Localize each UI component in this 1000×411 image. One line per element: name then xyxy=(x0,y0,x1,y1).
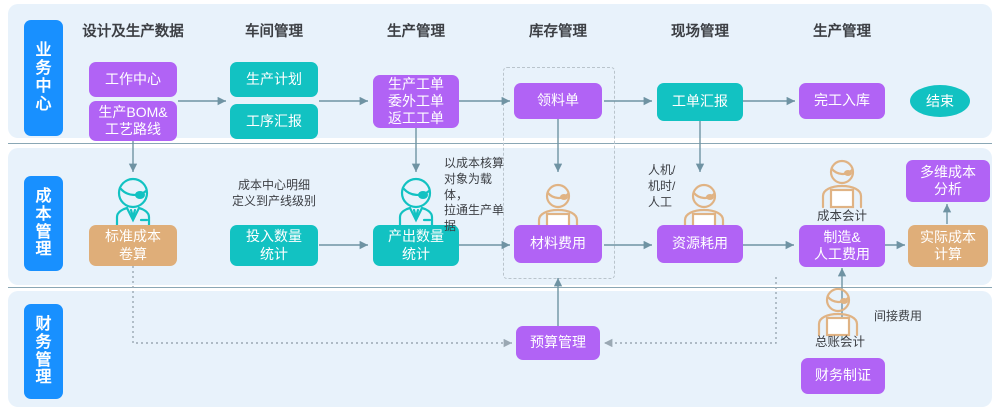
node-multi-dimensional-cost-analysis[interactable]: 多维成本 分析 xyxy=(906,160,990,202)
column-header-production-management-1: 生产管理 xyxy=(387,20,445,41)
node-work-order-report[interactable]: 工单汇报 xyxy=(657,83,743,121)
note-cost-object-carrier: 以成本核算 对象为载体， 拉通生产单据 xyxy=(444,156,514,235)
divider-top xyxy=(8,143,992,144)
node-process-report[interactable]: 工序汇报 xyxy=(230,104,318,139)
node-standard-cost-rollup[interactable]: 标准成本 卷算 xyxy=(89,225,177,266)
column-header-site-management: 现场管理 xyxy=(671,20,729,41)
caption-cost-accountant: 成本会计 xyxy=(817,205,867,224)
node-actual-cost-calculation[interactable]: 实际成本 计算 xyxy=(908,225,988,267)
row-badge-cost-management: 成本管理 xyxy=(24,176,63,271)
row-badge-finance-management: 财务管理 xyxy=(24,304,63,399)
diagram-canvas: 业务中心 成本管理 财务管理 设计及生产数据 车间管理 生产管理 库存管理 现场… xyxy=(0,0,1000,411)
node-work-center[interactable]: 工作中心 xyxy=(89,62,177,97)
node-picking-list[interactable]: 领料单 xyxy=(514,83,602,119)
column-header-inventory-management: 库存管理 xyxy=(529,20,587,41)
node-work-orders[interactable]: 生产工单 委外工单 返工工单 xyxy=(373,75,459,128)
node-production-bom-routing[interactable]: 生产BOM& 工艺路线 xyxy=(89,101,177,141)
node-resource-consumption[interactable]: 资源耗用 xyxy=(657,225,743,263)
column-header-design-production-data: 设计及生产数据 xyxy=(82,20,184,41)
node-budget-management[interactable]: 预算管理 xyxy=(516,326,600,360)
node-end[interactable]: 结束 xyxy=(910,85,970,117)
row-badge-label: 业务中心 xyxy=(35,42,53,114)
row-badge-business-center: 业务中心 xyxy=(24,20,63,136)
node-financial-voucher[interactable]: 财务制证 xyxy=(801,358,885,394)
column-header-production-management-2: 生产管理 xyxy=(813,20,871,41)
node-manufacturing-labor-cost[interactable]: 制造& 人工费用 xyxy=(799,225,885,267)
node-production-plan[interactable]: 生产计划 xyxy=(230,62,318,97)
note-cost-center-detail: 成本中心明细 定义到产线级别 xyxy=(204,178,344,210)
row-badge-label: 财务管理 xyxy=(35,316,53,388)
node-material-cost[interactable]: 材料费用 xyxy=(514,225,602,263)
node-input-quantity-statistics[interactable]: 投入数量 统计 xyxy=(230,225,318,266)
row-badge-label: 成本管理 xyxy=(35,188,53,260)
caption-gl-accountant: 总账会计 xyxy=(815,331,865,350)
note-indirect-cost: 间接费用 xyxy=(874,309,936,325)
node-finished-goods-receipt[interactable]: 完工入库 xyxy=(799,83,885,119)
column-header-workshop-management: 车间管理 xyxy=(245,20,303,41)
